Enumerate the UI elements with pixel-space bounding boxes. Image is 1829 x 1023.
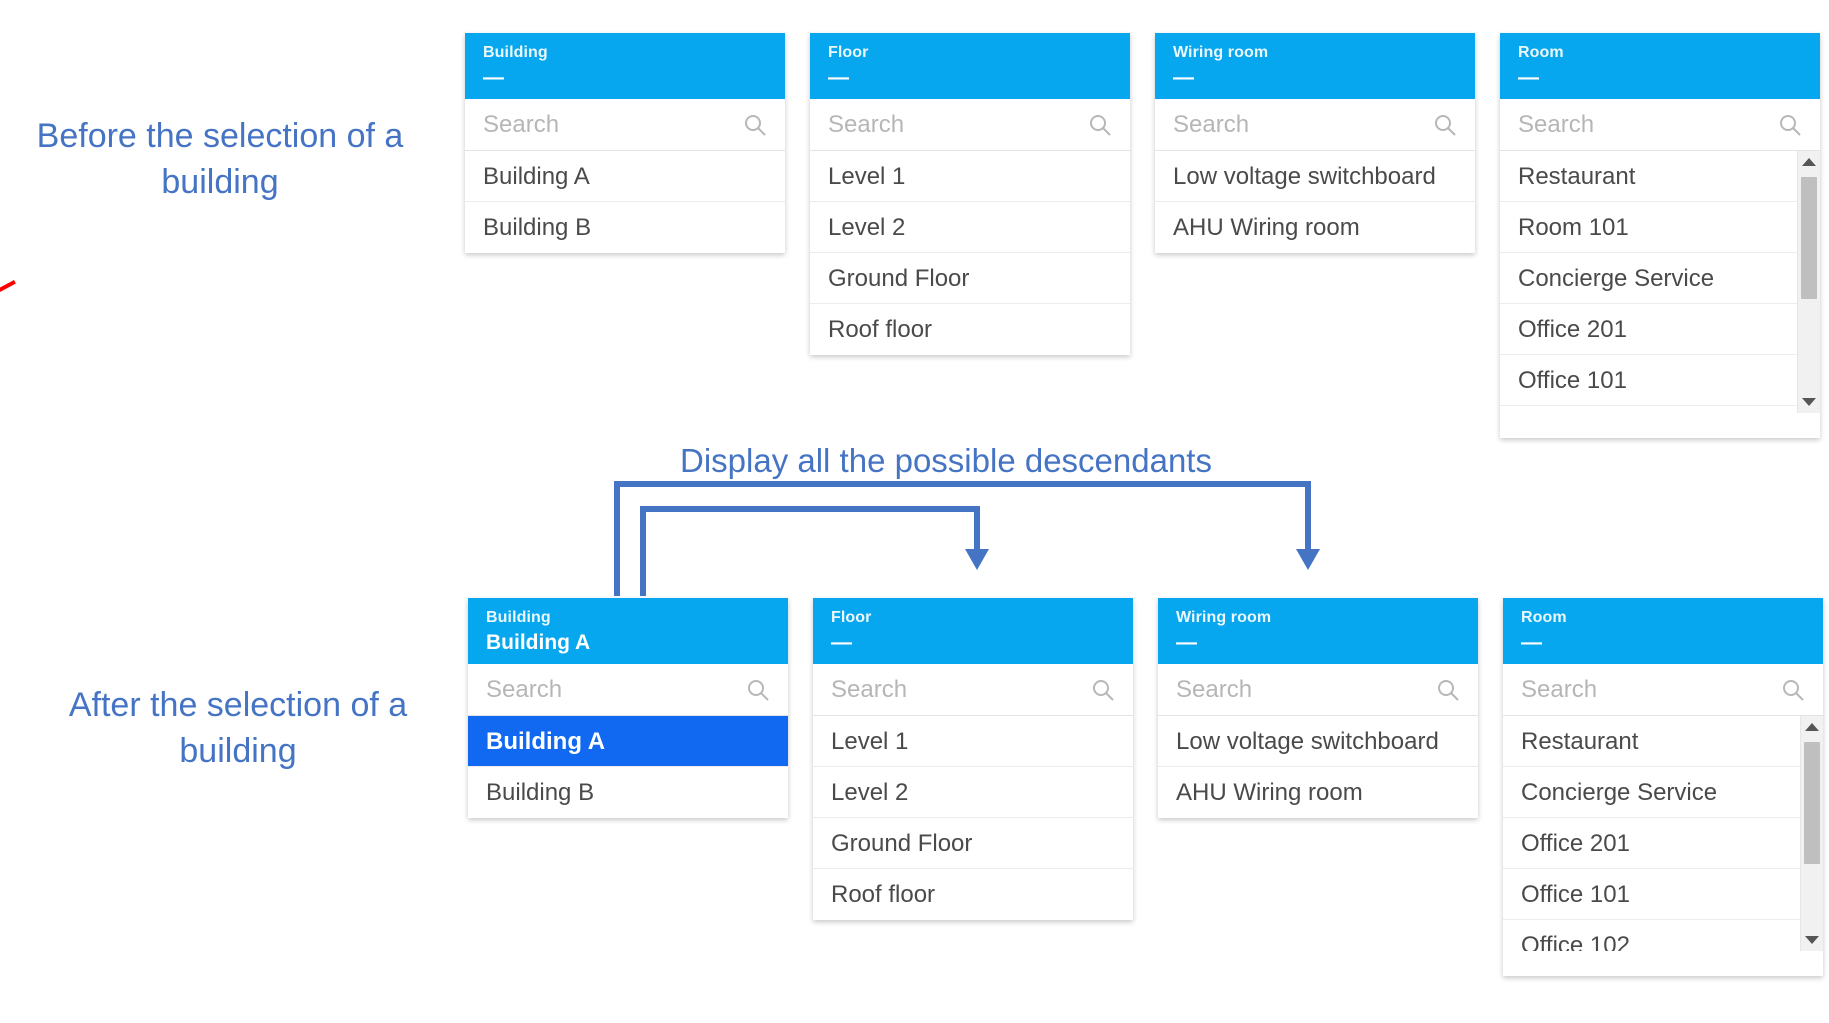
panel-header: Building — xyxy=(465,33,785,99)
search-placeholder: Search xyxy=(831,676,1091,704)
search-input[interactable]: Search xyxy=(1155,99,1475,151)
list-item[interactable]: Restaurant xyxy=(1500,151,1797,202)
panel-room-before[interactable]: Room — Search Restaurant Room 101 Concie… xyxy=(1500,33,1820,438)
panel-category-label: Room xyxy=(1518,43,1802,63)
after-selection-label: After the selection of a building xyxy=(28,682,448,774)
search-icon[interactable] xyxy=(1088,113,1112,137)
panel-selected-value: — xyxy=(1518,65,1802,91)
option-list[interactable]: Restaurant Concierge Service Office 201 … xyxy=(1503,716,1823,951)
search-icon[interactable] xyxy=(746,678,770,702)
panel-category-label: Room xyxy=(1521,608,1805,628)
list-item[interactable]: Office 101 xyxy=(1500,355,1797,406)
panel-category-label: Building xyxy=(483,43,767,63)
search-placeholder: Search xyxy=(483,111,743,139)
list-item[interactable]: Roof floor xyxy=(813,869,1133,920)
search-placeholder: Search xyxy=(1521,676,1781,704)
panel-floor-after[interactable]: Floor — Search Level 1 Level 2 Ground Fl… xyxy=(813,598,1133,920)
search-placeholder: Search xyxy=(828,111,1088,139)
option-list[interactable]: Low voltage switchboard AHU Wiring room xyxy=(1158,716,1478,818)
scrollbar[interactable] xyxy=(1800,716,1823,951)
scrollbar-thumb[interactable] xyxy=(1801,177,1817,299)
inner-bracket-path xyxy=(643,509,977,596)
list-item[interactable]: Level 1 xyxy=(813,716,1133,767)
before-selection-label: Before the selection of a building xyxy=(10,113,430,205)
panel-header: Room — xyxy=(1500,33,1820,99)
inner-arrowhead xyxy=(965,549,989,570)
triangle-down-icon[interactable] xyxy=(1798,393,1820,411)
search-input[interactable]: Search xyxy=(1503,664,1823,716)
panel-category-label: Building xyxy=(486,608,770,628)
list-item-selected[interactable]: Building A xyxy=(468,716,788,767)
list-item[interactable]: Office 102 xyxy=(1503,920,1800,951)
slide-canvas: Before the selection of a building After… xyxy=(0,0,1829,1023)
panel-category-label: Wiring room xyxy=(1173,43,1457,63)
panel-header: Wiring room — xyxy=(1155,33,1475,99)
red-tick-mark xyxy=(0,280,16,292)
search-input[interactable]: Search xyxy=(813,664,1133,716)
panel-category-label: Wiring room xyxy=(1176,608,1460,628)
option-list[interactable]: Building A Building B xyxy=(468,716,788,818)
search-placeholder: Search xyxy=(1176,676,1436,704)
triangle-up-icon[interactable] xyxy=(1798,153,1820,171)
list-item[interactable]: Concierge Service xyxy=(1500,253,1797,304)
list-item[interactable]: Office 102 xyxy=(1500,406,1797,413)
search-input[interactable]: Search xyxy=(1500,99,1820,151)
option-list[interactable]: Level 1 Level 2 Ground Floor Roof floor xyxy=(810,151,1130,355)
panel-header: Floor — xyxy=(813,598,1133,664)
panel-building-after[interactable]: Building Building A Search Building A Bu… xyxy=(468,598,788,818)
panel-selected-value: — xyxy=(1176,630,1460,656)
search-input[interactable]: Search xyxy=(468,664,788,716)
list-item[interactable]: Room 101 xyxy=(1500,202,1797,253)
option-list[interactable]: Restaurant Room 101 Concierge Service Of… xyxy=(1500,151,1820,413)
panel-selected-value: — xyxy=(1521,630,1805,656)
scrollbar-thumb[interactable] xyxy=(1804,742,1820,864)
list-item[interactable]: Ground Floor xyxy=(810,253,1130,304)
list-item[interactable]: Building B xyxy=(468,767,788,818)
list-item[interactable]: Level 2 xyxy=(813,767,1133,818)
panel-building-before[interactable]: Building — Search Building A Building B xyxy=(465,33,785,253)
list-item[interactable]: Restaurant xyxy=(1503,716,1800,767)
search-placeholder: Search xyxy=(1518,111,1778,139)
list-item[interactable]: Office 201 xyxy=(1500,304,1797,355)
search-placeholder: Search xyxy=(1173,111,1433,139)
triangle-up-icon[interactable] xyxy=(1801,718,1823,736)
list-item[interactable]: Roof floor xyxy=(810,304,1130,355)
list-item[interactable]: Building B xyxy=(465,202,785,253)
list-item[interactable]: Level 2 xyxy=(810,202,1130,253)
display-descendants-label: Display all the possible descendants xyxy=(680,441,1212,481)
panel-floor-before[interactable]: Floor — Search Level 1 Level 2 Ground Fl… xyxy=(810,33,1130,355)
outer-arrowhead xyxy=(1296,549,1320,570)
search-icon[interactable] xyxy=(1091,678,1115,702)
search-input[interactable]: Search xyxy=(1158,664,1478,716)
panel-header: Floor — xyxy=(810,33,1130,99)
outer-bracket-path xyxy=(617,484,1308,596)
panel-wiring-room-before[interactable]: Wiring room — Search Low voltage switchb… xyxy=(1155,33,1475,253)
list-item[interactable]: Level 1 xyxy=(810,151,1130,202)
panel-selected-value: — xyxy=(483,65,767,91)
list-item[interactable]: Low voltage switchboard xyxy=(1158,716,1478,767)
search-input[interactable]: Search xyxy=(810,99,1130,151)
panel-wiring-room-after[interactable]: Wiring room — Search Low voltage switchb… xyxy=(1158,598,1478,818)
search-icon[interactable] xyxy=(1433,113,1457,137)
panel-selected-value: Building A xyxy=(486,630,770,656)
panel-category-label: Floor xyxy=(828,43,1112,63)
panel-selected-value: — xyxy=(1173,65,1457,91)
list-item[interactable]: AHU Wiring room xyxy=(1155,202,1475,253)
search-input[interactable]: Search xyxy=(465,99,785,151)
list-item[interactable]: Office 201 xyxy=(1503,818,1800,869)
triangle-down-icon[interactable] xyxy=(1801,931,1823,949)
list-item[interactable]: Ground Floor xyxy=(813,818,1133,869)
search-icon[interactable] xyxy=(743,113,767,137)
search-placeholder: Search xyxy=(486,676,746,704)
panel-selected-value: — xyxy=(828,65,1112,91)
panel-category-label: Floor xyxy=(831,608,1115,628)
panel-selected-value: — xyxy=(831,630,1115,656)
scrollbar[interactable] xyxy=(1797,151,1820,413)
panel-header: Wiring room — xyxy=(1158,598,1478,664)
search-icon[interactable] xyxy=(1781,678,1805,702)
panel-header: Room — xyxy=(1503,598,1823,664)
option-list[interactable]: Level 1 Level 2 Ground Floor Roof floor xyxy=(813,716,1133,920)
panel-room-after[interactable]: Room — Search Restaurant Concierge Servi… xyxy=(1503,598,1823,976)
list-item[interactable]: Low voltage switchboard xyxy=(1155,151,1475,202)
list-item[interactable]: Concierge Service xyxy=(1503,767,1800,818)
option-list[interactable]: Low voltage switchboard AHU Wiring room xyxy=(1155,151,1475,253)
panel-header: Building Building A xyxy=(468,598,788,664)
list-item[interactable]: Office 101 xyxy=(1503,869,1800,920)
search-icon[interactable] xyxy=(1436,678,1460,702)
list-item[interactable]: AHU Wiring room xyxy=(1158,767,1478,818)
list-item[interactable]: Building A xyxy=(465,151,785,202)
option-list[interactable]: Building A Building B xyxy=(465,151,785,253)
search-icon[interactable] xyxy=(1778,113,1802,137)
